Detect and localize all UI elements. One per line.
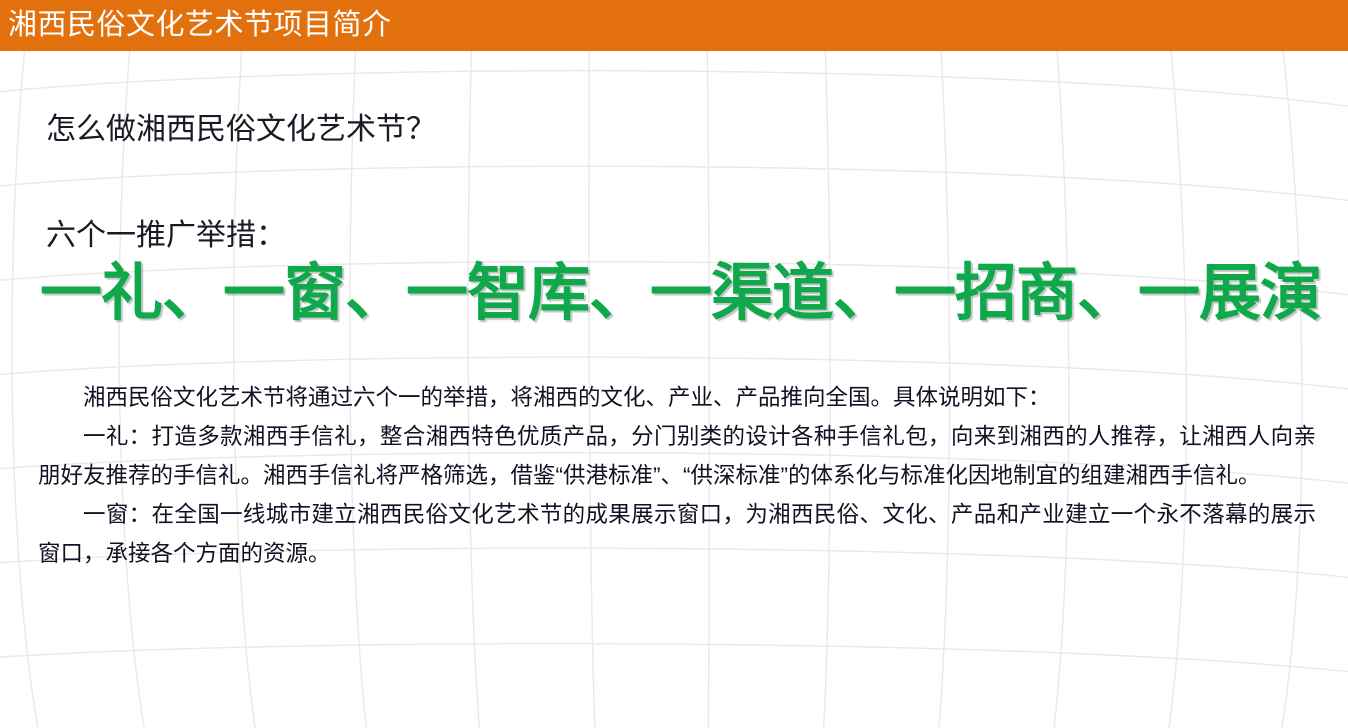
body-paragraph-yili: 一礼：打造多款湘西手信礼，整合湘西特色优质产品，分门别类的设计各种手信礼包，向来… (38, 417, 1316, 495)
heading-measures-label: 六个一推广举措： (46, 219, 286, 252)
slide-content: 怎么做湘西民俗文化艺术节？ 六个一推广举措： 一礼、一窗、一智库、一渠道、一招商… (0, 51, 1348, 728)
heading-question: 怎么做湘西民俗文化艺术节？ (46, 113, 436, 146)
body-paragraph-yichuang: 一窗：在全国一线城市建立湘西民俗文化艺术节的成果展示窗口，为湘西民俗、文化、产品… (38, 495, 1316, 573)
slide-title: 湘西民俗文化艺术节项目简介 (0, 11, 392, 40)
slide-title-bar: 湘西民俗文化艺术节项目简介 (0, 0, 1348, 51)
slide-root: 湘西民俗文化艺术节项目简介 怎么做湘西民俗文化艺术节？ 六个一推广举措： 一礼、… (0, 0, 1348, 728)
body-text-block: 湘西民俗文化艺术节将通过六个一的举措，将湘西的文化、产业、产品推向全国。具体说明… (38, 378, 1316, 573)
slogan-six-ones: 一礼、一窗、一智库、一渠道、一招商、一展演 (40, 261, 1321, 326)
body-paragraph-intro: 湘西民俗文化艺术节将通过六个一的举措，将湘西的文化、产业、产品推向全国。具体说明… (38, 378, 1316, 417)
